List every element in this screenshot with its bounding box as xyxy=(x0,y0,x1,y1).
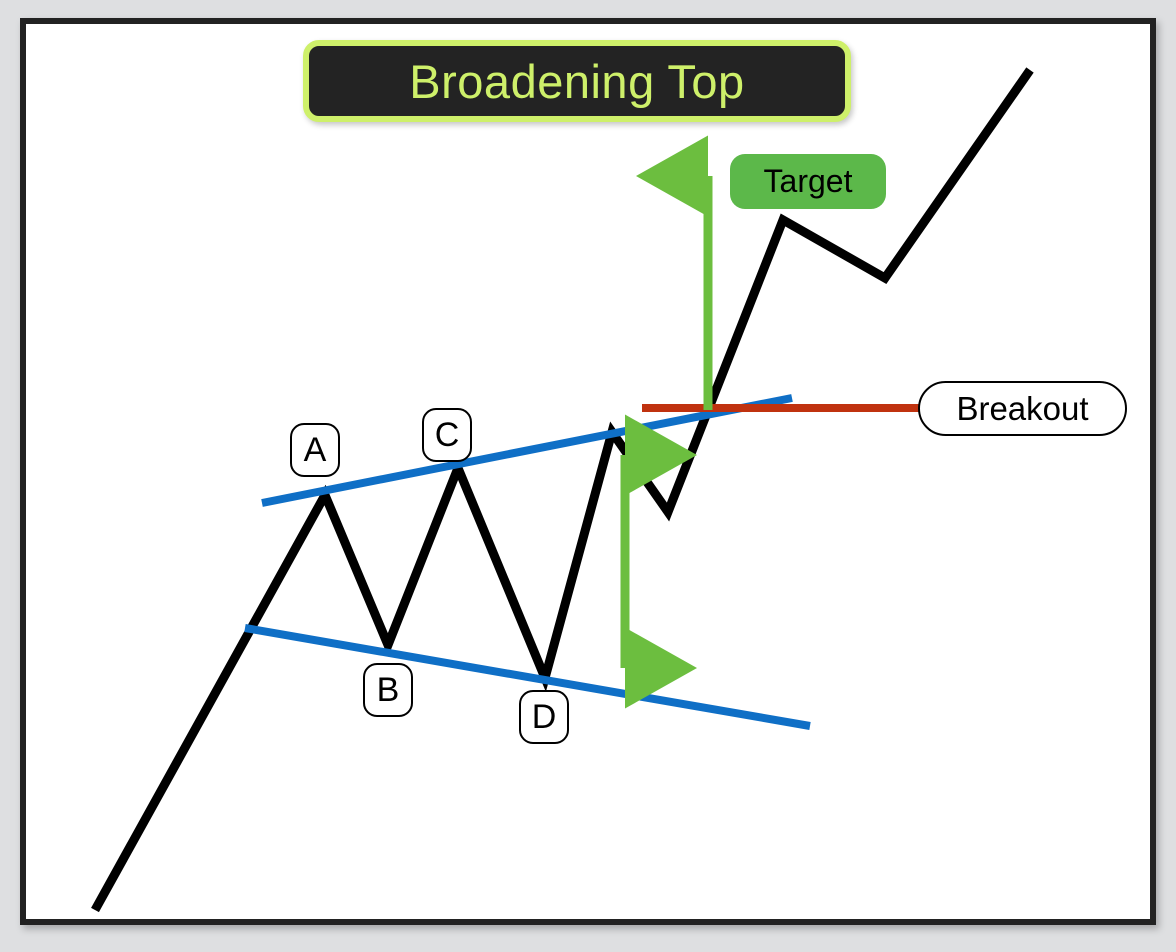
breakout-text: Breakout xyxy=(956,390,1088,428)
point-label-b: B xyxy=(363,663,413,717)
breakout-badge: Breakout xyxy=(918,381,1127,436)
title-text: Broadening Top xyxy=(409,54,744,109)
figure-stage: Broadening Top Target Breakout A C B D xyxy=(0,0,1176,952)
pattern-drawing xyxy=(0,0,1176,952)
point-label-d-text: D xyxy=(532,698,557,737)
target-badge: Target xyxy=(730,154,886,209)
target-text: Target xyxy=(764,163,853,200)
point-label-c: C xyxy=(422,408,472,462)
upper-trendline xyxy=(262,398,792,503)
point-label-a-text: A xyxy=(304,431,327,470)
point-label-a: A xyxy=(290,423,340,477)
point-label-d: D xyxy=(519,690,569,744)
point-label-b-text: B xyxy=(377,671,400,710)
title-badge: Broadening Top xyxy=(303,40,851,122)
price-line xyxy=(95,70,1030,910)
point-label-c-text: C xyxy=(435,416,460,455)
